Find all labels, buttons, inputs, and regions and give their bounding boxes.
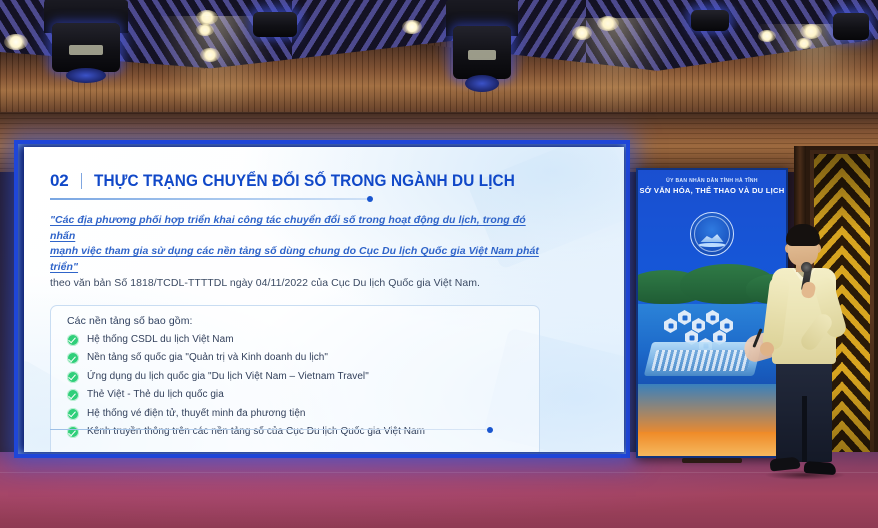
check-circle-icon: [67, 371, 79, 383]
presenter: [748, 224, 860, 494]
title-underline: [50, 198, 370, 200]
fixture-badge: [69, 45, 103, 54]
list-item-label: Hệ thống vé điện tử, thuyết minh đa phươ…: [87, 408, 306, 420]
check-circle-icon: [67, 334, 79, 346]
list-item: Hệ thống vé điện tử, thuyết minh đa phươ…: [67, 408, 525, 420]
check-circle-icon: [67, 426, 79, 438]
list-item: Hệ thống CSDL du lịch Việt Nam: [67, 334, 525, 346]
fixture-head: [253, 12, 296, 37]
ceiling: [0, 0, 878, 120]
spotlight-icon: [402, 20, 422, 34]
list-item: Kênh truyền thông trên các nền tảng số c…: [67, 426, 525, 438]
microphone-head: [801, 262, 812, 273]
slide-title: THỰC TRẠNG CHUYỂN ĐỔI SỐ TRONG NGÀNH DU …: [94, 172, 515, 191]
fixture-lens: [465, 75, 500, 92]
check-circle-icon: [67, 352, 79, 364]
slide-header: 02 THỰC TRẠNG CHUYỂN ĐỔI SỐ TRONG NGÀNH …: [50, 171, 602, 191]
presentation-room-scene: 02 THỰC TRẠNG CHUYỂN ĐỔI SỐ TRONG NGÀNH …: [0, 0, 878, 528]
moving-head-light-5: [828, 0, 874, 44]
title-divider: [81, 173, 82, 189]
slide-surface: 02 THỰC TRẠNG CHUYỂN ĐỔI SỐ TRONG NGÀNH …: [24, 147, 624, 452]
slide-bottom-rule: [50, 429, 490, 430]
presenter-hand-left: [760, 342, 774, 356]
list-item: Nền tảng số quốc gia "Quản trị và Kinh d…: [67, 352, 525, 364]
quote-line-3: theo văn bản Số 1818/TCDL-TTTTDL ngày 04…: [50, 276, 550, 292]
list-item-label: Nền tảng số quốc gia "Quản trị và Kinh d…: [87, 352, 328, 364]
title-underline-dot: [367, 196, 373, 202]
fixture-head: [691, 10, 729, 31]
check-circle-icon: [67, 408, 79, 420]
floor-seam: [0, 472, 878, 473]
light-beam: [560, 18, 670, 112]
moving-head-light-4: [686, 0, 734, 34]
list-item-label: Hệ thống CSDL du lịch Việt Nam: [87, 334, 234, 346]
moving-head-light-2: [248, 0, 302, 40]
quote-line-1: "Các địa phương phối hợp triển khai công…: [50, 213, 550, 244]
list-item-label: Thẻ Việt - Thẻ du lịch quốc gia: [87, 389, 224, 401]
quote-line-2: mạnh việc tham gia sử dụng các nền tảng …: [50, 244, 550, 275]
presenter-leg-gap: [802, 396, 807, 462]
moving-head-light-3: [446, 0, 518, 86]
list-item-label: Ứng dụng du lịch quốc gia "Du lịch Việt …: [87, 371, 369, 383]
platform-list: Hệ thống CSDL du lịch Việt Nam Nền tảng …: [67, 334, 525, 439]
list-item: Thẻ Việt - Thẻ du lịch quốc gia: [67, 389, 525, 401]
fixture-head: [833, 13, 870, 40]
bottom-rule-dot: [487, 427, 493, 433]
quote-paragraph: "Các địa phương phối hợp triển khai công…: [50, 213, 550, 292]
check-circle-icon: [67, 389, 79, 401]
presenter-hair: [786, 224, 820, 246]
list-item-label: Kênh truyền thông trên các nền tảng số c…: [87, 426, 425, 438]
slide-content: 02 THỰC TRẠNG CHUYỂN ĐỔI SỐ TRONG NGÀNH …: [24, 147, 624, 452]
card-heading: Các nền tảng số bao gồm:: [67, 315, 525, 327]
banner-stand: [682, 458, 742, 463]
floor-light-wash: [0, 452, 878, 528]
projection-screen[interactable]: 02 THỰC TRẠNG CHUYỂN ĐỔI SỐ TRONG NGÀNH …: [14, 140, 630, 458]
fixture-badge: [468, 50, 497, 60]
spotlight-icon: [4, 34, 28, 50]
list-item: Ứng dụng du lịch quốc gia "Du lịch Việt …: [67, 371, 525, 383]
moving-head-light-1: [44, 0, 128, 78]
presenter-shoe-right: [804, 461, 837, 475]
section-number: 02: [50, 171, 69, 191]
